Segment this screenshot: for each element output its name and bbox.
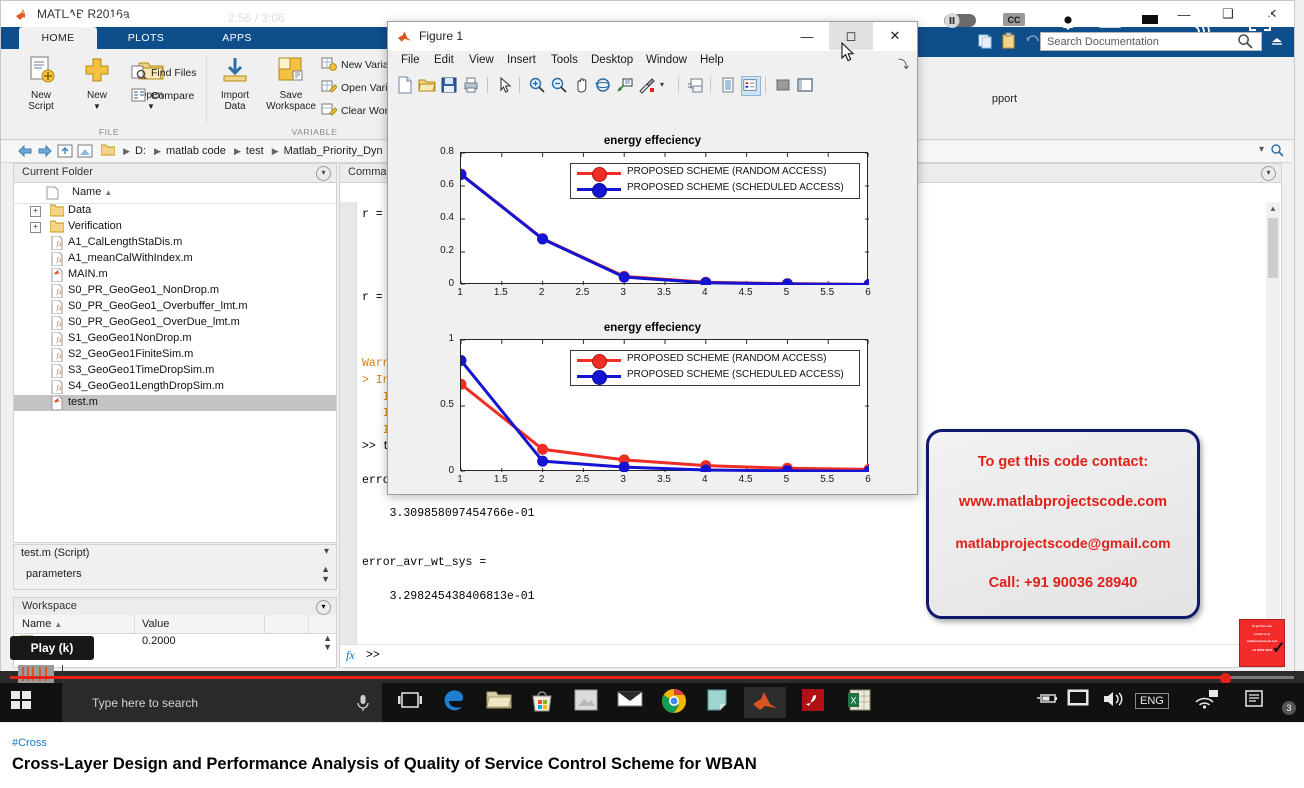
column-divider (134, 615, 135, 633)
progress-hover-line (62, 665, 63, 685)
figure-toolbar[interactable]: ▾ (388, 73, 917, 98)
details-parameters-label: parameters (26, 568, 82, 580)
task-view-icon[interactable] (396, 687, 428, 718)
series-marker (538, 234, 548, 244)
storyboard-preview (18, 665, 54, 685)
fullscreen-button[interactable] (1238, 0, 1282, 39)
open-variable-icon (321, 80, 337, 94)
file-list-item[interactable]: fxS0_PR_GeoGeo1_OverDue_lmt.m (14, 315, 336, 331)
mail-icon[interactable] (616, 687, 648, 718)
function-file-icon: fx (50, 364, 64, 378)
svg-text:CC: CC (1008, 15, 1021, 25)
menu-tools[interactable]: Tools (551, 54, 578, 66)
svg-text:fx: fx (57, 320, 63, 328)
file-list-item[interactable]: fxS4_GeoGeo1LengthDropSim.m (14, 379, 336, 395)
x-tick-label: 5.5 (811, 474, 843, 485)
name-column-label: Name ▲ (72, 186, 112, 198)
current-folder-panel[interactable]: Name ▲ +Data+VerificationfxA1_CalLengthS… (13, 182, 337, 543)
video-viewport[interactable]: MATLAB R2016a — ❑ ✕ HOME PLOTS APPS (0, 0, 1304, 722)
language-indicator[interactable]: ENG (1135, 693, 1169, 709)
contact-website: www.matlabprojectscode.com (929, 494, 1197, 510)
command-window-options-icon[interactable]: ▾ (1261, 166, 1276, 181)
workspace-options-icon[interactable]: ▾ (316, 600, 331, 615)
legend-label-random: PROPOSED SCHEME (RANDOM ACCESS) (627, 353, 826, 364)
legend-row: PROPOSED SCHEME (SCHEDULED ACCESS) (571, 368, 859, 383)
breadcrumb-seg-0[interactable]: D: (135, 145, 146, 157)
new-figure-icon[interactable] (396, 76, 414, 94)
x-tick-label: 4 (689, 474, 721, 485)
file-name-label: S0_PR_GeoGeo1_Overbuffer_lmt.m (68, 300, 248, 312)
chrome-icon[interactable] (660, 687, 692, 718)
expand-icon[interactable]: + (30, 206, 41, 217)
column-divider (308, 615, 309, 633)
autoplay-toggle[interactable] (938, 0, 982, 39)
chart-title-top: energy effeciency (388, 135, 917, 147)
legend-row: PROPOSED SCHEME (SCHEDULED ACCESS) (571, 181, 859, 196)
x-tick-label: 2.5 (566, 474, 598, 485)
script-file-icon (50, 268, 64, 282)
progress-bar-played[interactable] (10, 676, 1225, 679)
tab-apps[interactable]: APPS (195, 27, 279, 49)
file-name-label: S4_GeoGeo1LengthDropSim.m (68, 380, 224, 392)
file-name-label: Verification (68, 220, 122, 232)
file-explorer-icon[interactable] (485, 687, 517, 718)
workspace-title: Workspace (22, 600, 77, 612)
breadcrumb-seg-3[interactable]: Matlab_Priority_Dyn (284, 145, 383, 157)
rotate-3d-icon[interactable] (594, 76, 612, 94)
x-tick-label: 3 (607, 287, 639, 298)
folder-file-icon (50, 220, 64, 234)
up-folder-icon[interactable] (57, 144, 73, 163)
function-file-icon: fx (50, 252, 64, 266)
volume-icon[interactable] (1100, 687, 1132, 718)
sort-arrow-icon: ▲ (104, 188, 112, 197)
svg-text:fx: fx (57, 336, 63, 344)
series-marker (782, 279, 792, 285)
figure-close-button[interactable]: ✕ (873, 22, 917, 50)
chevron-down-icon[interactable]: ▾ (324, 546, 329, 557)
brush-icon[interactable] (638, 76, 656, 94)
chart-legend-bottom[interactable]: PROPOSED SCHEME (RANDOM ACCESS) PROPOSED… (570, 350, 860, 386)
toolbar-divider (765, 77, 766, 93)
file-list-item[interactable]: +Data (14, 203, 336, 219)
theater-mode-button[interactable] (1130, 0, 1176, 39)
figure-title: Figure 1 (419, 29, 463, 43)
chart-legend-top[interactable]: PROPOSED SCHEME (RANDOM ACCESS) PROPOSED… (570, 163, 860, 199)
video-title: Cross-Layer Design and Performance Analy… (12, 755, 757, 774)
y-tick-label: 0.2 (416, 245, 454, 256)
scroll-up-arrow[interactable]: ▲ (1266, 202, 1280, 216)
file-list-item[interactable]: fxA1_meanCalWithIndex.m (14, 251, 336, 267)
show-plot-tools-icon[interactable] (796, 76, 814, 94)
settings-button[interactable] (1046, 0, 1090, 39)
file-list-item[interactable]: fxS2_GeoGeo1FiniteSim.m (14, 347, 336, 363)
toolbar-divider (487, 77, 488, 93)
breadcrumb-seg-1[interactable]: matlab code (166, 145, 226, 157)
clear-workspace-icon (321, 103, 337, 117)
series-marker (864, 280, 869, 285)
x-tick-label: 6 (852, 287, 884, 298)
menu-edit[interactable]: Edit (434, 54, 454, 66)
y-tick-label: 1 (416, 333, 454, 344)
expand-icon[interactable]: + (30, 222, 41, 233)
figure-menubar[interactable]: File Edit View Insert Tools Desktop Wind… (388, 51, 917, 73)
current-folder-title: Current Folder (22, 166, 93, 178)
series-marker (538, 444, 548, 454)
open-file-icon[interactable] (418, 76, 436, 94)
figure-window[interactable]: Figure 1 — ◻ ✕ File Edit View Insert Too… (387, 21, 918, 495)
series-marker (782, 466, 792, 472)
current-folder-options-icon[interactable]: ▾ (316, 166, 331, 181)
y-tick-label: 0.6 (416, 179, 454, 190)
workspace-scroll-spinner[interactable]: ▲▼ (323, 634, 332, 652)
figure-matlab-icon (397, 29, 412, 43)
hide-plot-tools-icon[interactable] (774, 76, 792, 94)
find-files-label: Find Files (151, 67, 197, 79)
function-file-icon: fx (50, 316, 64, 330)
svg-text:fx: fx (57, 304, 63, 312)
matlab-main-window: MATLAB R2016a — ❑ ✕ HOME PLOTS APPS (0, 0, 1295, 674)
x-tick-label: 6 (852, 474, 884, 485)
check-icon: ✓ (1272, 638, 1285, 658)
x-tick-label: 4.5 (730, 474, 762, 485)
series-marker (619, 462, 629, 472)
cortana-mic-icon[interactable] (355, 694, 371, 712)
details-panel-body: parameters ▲▼ (13, 562, 337, 590)
pointer-icon[interactable] (496, 76, 514, 94)
battery-icon[interactable] (1035, 687, 1067, 718)
file-name-label: MAIN.m (68, 268, 108, 280)
find-files-button[interactable]: Find Files (131, 65, 197, 79)
new-variable-icon (321, 57, 337, 71)
y-tick-label: 0.8 (416, 146, 454, 157)
file-list-item[interactable]: fxA1_CalLengthStaDis.m (14, 235, 336, 251)
print-figure-icon[interactable] (462, 76, 480, 94)
svg-text:fx: fx (57, 352, 63, 360)
back-icon[interactable] (17, 144, 33, 163)
next-video-button[interactable] (56, 0, 96, 39)
file-name-label: S1_GeoGeo1NonDrop.m (68, 332, 192, 344)
svg-text:fx: fx (57, 256, 63, 264)
function-file-icon: fx (50, 284, 64, 298)
svg-text:fx: fx (57, 240, 63, 248)
fx-icon: fx (346, 648, 355, 663)
sticky-notes-icon[interactable] (704, 687, 736, 718)
x-tick-label: 2.5 (566, 287, 598, 298)
svg-text:fx: fx (57, 288, 63, 296)
excel-icon[interactable]: X (846, 687, 878, 718)
thumb-line: contact us at (1242, 633, 1282, 636)
series-marker (701, 465, 711, 472)
save-workspace-button[interactable]: SaveWorkspace (263, 55, 319, 112)
x-tick-label: 1.5 (485, 474, 517, 485)
command-prompt-bar[interactable]: fx >> (339, 644, 1282, 668)
x-tick-label: 4 (689, 287, 721, 298)
legend-marker (592, 370, 607, 385)
details-file-label: test.m (Script) (21, 547, 89, 559)
breadcrumb-seg-2[interactable]: test (246, 145, 264, 157)
command-prompt: >> (366, 649, 380, 662)
video-time-display: 2:56 / 3:06 (228, 11, 285, 25)
new-button[interactable]: New▼ (69, 55, 125, 112)
figure-minimize-button[interactable]: — (785, 22, 829, 50)
menu-desktop[interactable]: Desktop (591, 54, 633, 66)
display-icon[interactable] (1065, 687, 1097, 718)
workspace-column-header[interactable]: Name ▲ Value (14, 615, 336, 634)
workspace-col-name: Name ▲ (22, 618, 62, 630)
play-tooltip: Play (k) (10, 636, 94, 660)
file-name-label: Data (68, 204, 91, 216)
legend-row: PROPOSED SCHEME (RANDOM ACCESS) (571, 352, 859, 367)
function-file-icon: fx (50, 332, 64, 346)
chart-title-bottom: energy effeciency (388, 322, 917, 334)
menu-window[interactable]: Window (646, 54, 687, 66)
toolbar-divider (519, 77, 520, 93)
video-hashtag-link[interactable]: #Cross (12, 737, 47, 749)
colorbar-icon[interactable] (719, 76, 737, 94)
x-tick-label: 5 (770, 287, 802, 298)
workspace-panel-header: Workspace ▾ (14, 598, 336, 616)
contact-phone: Call: +91 90036 28940 (929, 575, 1197, 591)
legend-label-random: PROPOSED SCHEME (RANDOM ACCESS) (627, 166, 826, 177)
legend-marker (592, 183, 607, 198)
save-figure-icon[interactable] (440, 76, 458, 94)
details-scroll-spinner[interactable]: ▲▼ (321, 564, 330, 584)
y-tick-label: 0.5 (416, 399, 454, 410)
compare-icon (131, 88, 147, 102)
x-tick-label: 5 (770, 474, 802, 485)
file-list-item[interactable]: test.m (14, 395, 336, 411)
forward-icon[interactable] (37, 144, 53, 163)
file-list-item[interactable]: MAIN.m (14, 267, 336, 283)
toolbar-divider (710, 77, 711, 93)
support-text: pport (992, 93, 1017, 105)
x-tick-label: 1.5 (485, 287, 517, 298)
column-divider (264, 615, 265, 633)
figure-plot-canvas[interactable]: energy effeciency 11.522.533.544.555.560… (388, 97, 917, 493)
current-folder-column-header[interactable]: Name ▲ (14, 183, 336, 204)
pan-icon[interactable] (572, 76, 590, 94)
file-name-label: S2_GeoGeo1FiniteSim.m (68, 348, 193, 360)
microsoft-store-icon[interactable] (528, 687, 560, 718)
new-script-icon (13, 55, 69, 87)
photos-icon[interactable] (572, 687, 604, 718)
volume-button[interactable] (100, 0, 140, 39)
zoom-out-icon[interactable] (550, 76, 568, 94)
breadcrumb[interactable]: ▶D: ▶matlab code ▶test ▶Matlab_Priority_… (101, 144, 383, 157)
matlab-icon[interactable] (744, 687, 786, 718)
address-dropdown-icon[interactable]: ▾ (1259, 144, 1264, 155)
x-tick-label: 2 (526, 474, 558, 485)
play-pause-button[interactable] (12, 0, 52, 39)
new-script-button[interactable]: NewScript (13, 55, 69, 112)
y-tick-label: 0 (416, 465, 454, 476)
svg-text:fx: fx (57, 368, 63, 376)
network-icon[interactable] (1193, 687, 1225, 718)
ribbon-group-file: NewScript New▼ Open▼ (11, 49, 207, 139)
x-tick-label: 3.5 (648, 474, 680, 485)
x-tick-label: 4.5 (730, 287, 762, 298)
command-window-gutter (340, 202, 357, 662)
breadcrumb-folder-icon (101, 145, 118, 157)
current-folder-panel-header: Current Folder ▾ (13, 163, 337, 183)
x-tick-label: 2 (526, 287, 558, 298)
x-tick-label: 3.5 (648, 287, 680, 298)
workspace-value: 0.2000 (142, 635, 176, 647)
file-name-label: A1_CalLengthStaDis.m (68, 236, 182, 248)
file-list-item[interactable]: fxS0_PR_GeoGeo1_NonDrop.m (14, 283, 336, 299)
script-file-icon (50, 396, 64, 410)
menu-file[interactable]: File (401, 54, 420, 66)
link-plot-icon[interactable] (687, 76, 705, 94)
file-name-label: S3_GeoGeo1TimeDropSim.m (68, 364, 214, 376)
mouse-cursor (841, 42, 855, 62)
menu-insert[interactable]: Insert (507, 54, 536, 66)
start-icon[interactable] (8, 687, 40, 718)
browse-folder-icon[interactable] (77, 144, 93, 163)
legend-marker (592, 354, 607, 369)
thumb-line: To get this code (1242, 625, 1282, 628)
file-list-item[interactable]: fxS0_PR_GeoGeo1_Overbuffer_lmt.m (14, 299, 336, 315)
zoom-in-icon[interactable] (528, 76, 546, 94)
file-list-item[interactable]: fxS1_GeoGeo1NonDrop.m (14, 331, 336, 347)
dock-figure-icon[interactable]: ⤵ (898, 56, 909, 72)
series-marker (538, 456, 548, 466)
legend-marker (592, 167, 607, 182)
function-file-icon: fx (50, 236, 64, 250)
save-workspace-icon (263, 55, 319, 87)
file-list-item[interactable]: +Verification (14, 219, 336, 235)
series-marker (701, 278, 711, 285)
import-data-button[interactable]: ImportData (207, 55, 263, 112)
find-files-icon (131, 65, 147, 79)
file-name-label: test.m (68, 396, 98, 408)
toolbar-divider (678, 77, 679, 93)
import-data-icon (207, 55, 263, 87)
contact-email: matlabprojectscode@gmail.com (929, 535, 1197, 551)
legend-label-scheduled: PROPOSED SCHEME (SCHEDULED ACCESS) (627, 182, 844, 193)
brush-dropdown-icon[interactable]: ▾ (658, 76, 666, 94)
subtitles-button[interactable]: CC (994, 0, 1038, 39)
edge-icon[interactable] (440, 687, 472, 718)
legend-label-scheduled: PROPOSED SCHEME (SCHEDULED ACCESS) (627, 369, 844, 380)
ribbon-group-file-label: FILE (11, 127, 207, 137)
file-list-item[interactable]: fxS3_GeoGeo1TimeDropSim.m (14, 363, 336, 379)
x-tick-label: 3 (607, 474, 639, 485)
video-info-footer: #Cross Cross-Layer Design and Performanc… (0, 722, 1304, 788)
file-name-label: S0_PR_GeoGeo1_NonDrop.m (68, 284, 219, 296)
series-marker (619, 272, 629, 282)
figure-titlebar: Figure 1 — ◻ ✕ (388, 22, 917, 52)
cast-button[interactable] (1183, 0, 1231, 39)
taskbar-search-placeholder: Type here to search (92, 696, 198, 710)
notification-badge[interactable]: 3 (1282, 701, 1296, 715)
legend-icon[interactable] (741, 76, 761, 96)
command-window-scrollbar[interactable]: ▲ ▼ (1266, 202, 1280, 662)
miniplayer-button[interactable] (1090, 0, 1130, 39)
adobe-reader-icon[interactable] (800, 687, 832, 718)
function-file-icon: fx (50, 380, 64, 394)
screenshot-root: MATLAB R2016a — ❑ ✕ HOME PLOTS APPS (0, 0, 1304, 787)
scrollbar-thumb[interactable] (1268, 218, 1278, 278)
function-file-icon: fx (50, 300, 64, 314)
details-panel-header[interactable]: test.m (Script) ▾ (13, 544, 337, 564)
data-cursor-icon[interactable] (616, 76, 634, 94)
file-name-label: A1_meanCalWithIndex.m (68, 252, 193, 264)
legend-row: PROPOSED SCHEME (RANDOM ACCESS) (571, 165, 859, 180)
menu-view[interactable]: View (469, 54, 494, 66)
svg-text:fx: fx (57, 384, 63, 392)
workspace-col-value: Value (142, 618, 169, 630)
y-tick-label: 0.4 (416, 212, 454, 223)
menu-help[interactable]: Help (700, 54, 724, 66)
function-file-icon: fx (50, 348, 64, 362)
file-name-label: S0_PR_GeoGeo1_OverDue_lmt.m (68, 316, 240, 328)
compare-button[interactable]: Compare (131, 88, 194, 102)
folder-file-icon (50, 204, 64, 218)
open-button[interactable]: Open▼ (123, 55, 179, 112)
new-icon (69, 55, 125, 87)
x-tick-label: 5.5 (811, 287, 843, 298)
series-line (461, 384, 869, 469)
contact-info-box: To get this code contact: www.matlabproj… (926, 429, 1200, 619)
search-path-icon[interactable] (1270, 143, 1284, 162)
y-tick-label: 0 (416, 278, 454, 289)
svg-text:X: X (850, 696, 856, 706)
compare-label: Compare (151, 90, 194, 102)
action-center-icon[interactable] (1243, 687, 1275, 718)
contact-line-1: To get this code contact: (929, 454, 1197, 470)
